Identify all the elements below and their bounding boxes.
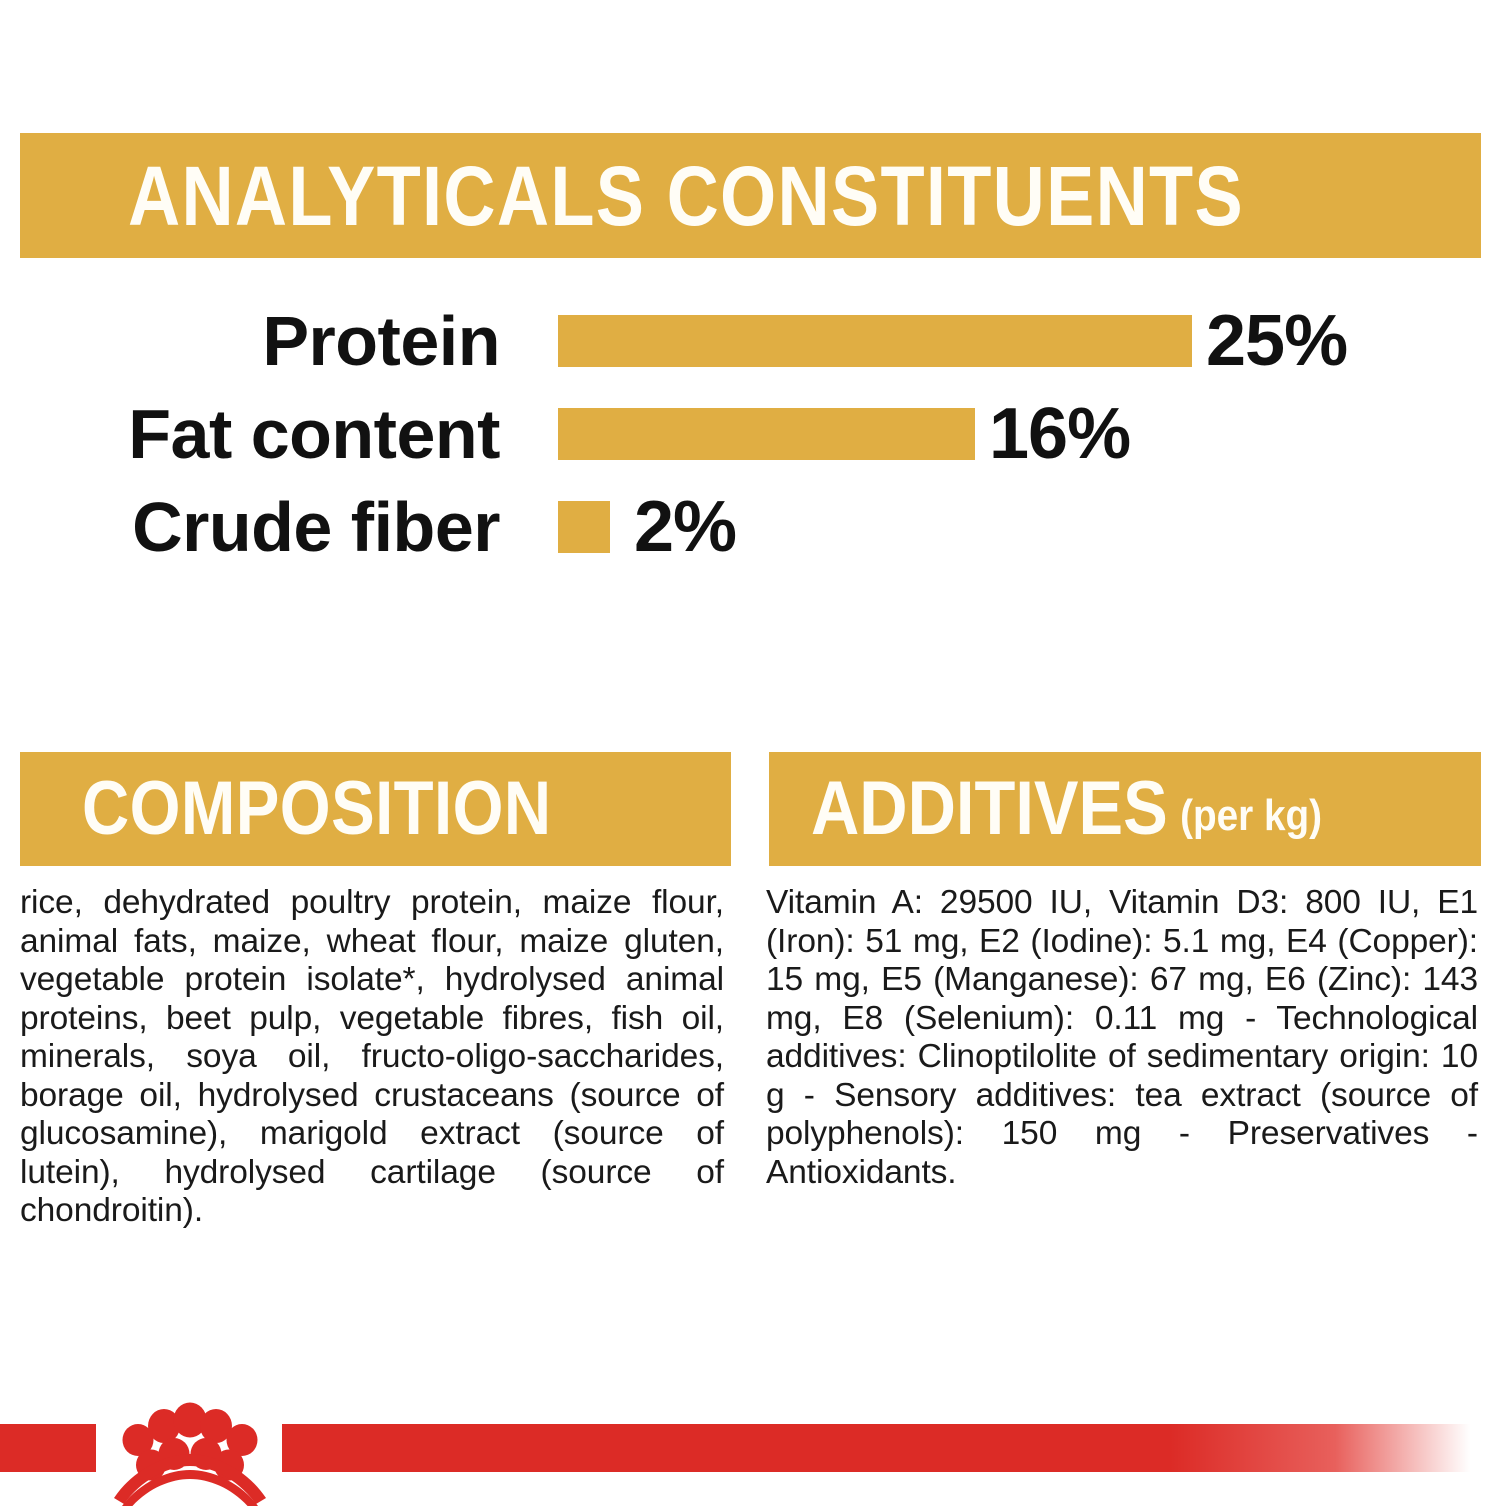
royal-canin-crown-icon: [96, 1382, 282, 1506]
composition-body-text: rice, dehydrated poultry protein, maize …: [20, 884, 724, 1231]
chart-label-crude-fiber: Crude fiber: [40, 492, 500, 562]
nutrition-panel: ANALYTICALS CONSTITUENTS Protein 25% Fat…: [0, 0, 1500, 1500]
additives-header: ADDITIVES (per kg): [769, 752, 1481, 866]
chart-row-crude-fiber: Crude fiber 2%: [0, 482, 1500, 572]
additives-heading-suffix: (per kg): [1180, 794, 1322, 838]
analytical-constituents-header: ANALYTICALS CONSTITUENTS: [20, 133, 1481, 258]
chart-label-fat-content: Fat content: [40, 399, 500, 469]
additives-body-text: Vitamin A: 29500 IU, Vitamin D3: 800 IU,…: [766, 884, 1478, 1192]
chart-bar-protein: [558, 315, 1192, 367]
chart-value-fat-content: 16%: [989, 398, 1130, 470]
chart-bar-fat-content: [558, 408, 975, 460]
chart-value-protein: 25%: [1206, 305, 1347, 377]
chart-bar-track-protein: [558, 315, 1192, 367]
additives-heading: ADDITIVES: [811, 771, 1168, 847]
composition-heading: COMPOSITION: [82, 771, 552, 847]
chart-value-crude-fiber: 2%: [634, 491, 736, 563]
page-title: ANALYTICALS CONSTITUENTS: [128, 154, 1244, 238]
analytical-constituents-chart: Protein 25% Fat content 16% Crude fiber …: [0, 296, 1500, 571]
additives-heading-group: ADDITIVES (per kg): [811, 771, 1322, 847]
chart-bar-track-fat-content: [558, 408, 975, 460]
brand-footer: [0, 1424, 1500, 1472]
chart-row-protein: Protein 25%: [0, 296, 1500, 386]
chart-row-fat-content: Fat content 16%: [0, 389, 1500, 479]
chart-bar-track-crude-fiber: [558, 501, 610, 553]
chart-bar-crude-fiber: [558, 501, 610, 553]
composition-header: COMPOSITION: [20, 752, 731, 866]
chart-label-protein: Protein: [40, 306, 500, 376]
